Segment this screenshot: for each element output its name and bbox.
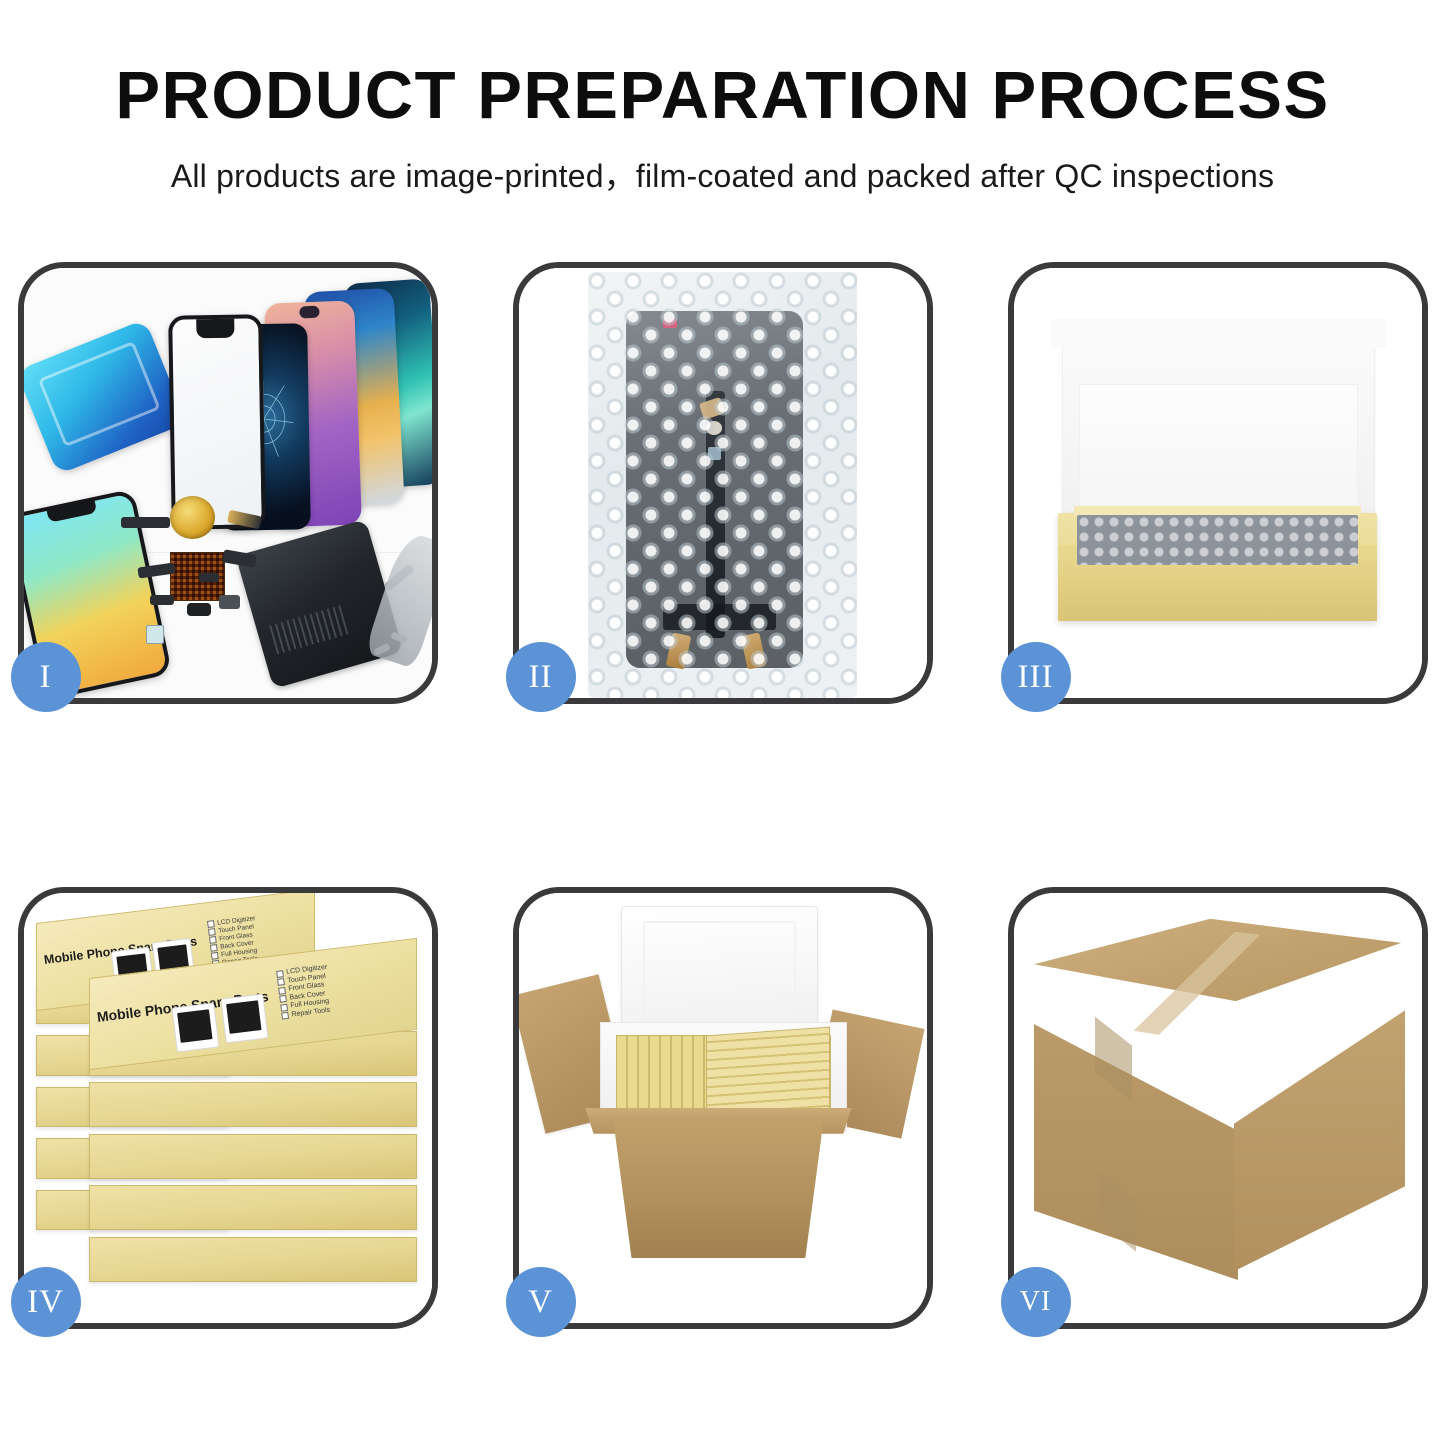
stacked-boxes-scene: Mobile Phone Spare Parts LCD Digitizer T… <box>24 893 432 1323</box>
page-subtitle: All products are image-printed，film-coat… <box>0 151 1445 197</box>
page-header: PRODUCT PREPARATION PROCESS All products… <box>0 0 1445 197</box>
step-badge-5: V <box>506 1267 576 1337</box>
step-badge-6: VI <box>1001 1267 1071 1337</box>
step-2-image <box>519 268 927 698</box>
phone-back-housing-board <box>236 519 403 688</box>
bubble-wrap-fill <box>1077 515 1357 564</box>
styrofoam-lid <box>621 906 819 1037</box>
bubble-texture-overlay <box>588 272 857 698</box>
process-step-panel-6[interactable]: VI <box>1008 887 1428 1329</box>
checkbox-icon <box>277 970 285 978</box>
carton-top-face <box>1034 919 1401 1061</box>
carton-front-face <box>1034 1013 1238 1280</box>
sealed-carton-scene <box>1014 893 1422 1323</box>
step-badge-1: I <box>11 642 81 712</box>
adhesive-frame-part <box>24 319 187 475</box>
flex-cable-part <box>199 573 219 582</box>
step-badge-4: IV <box>11 1267 81 1337</box>
gold-box-tray <box>1058 513 1376 621</box>
checkbox-icon <box>208 928 216 936</box>
stacked-box-body <box>89 1082 417 1127</box>
step-4-image: Mobile Phone Spare Parts LCD Digitizer T… <box>24 893 432 1323</box>
box-screen-display <box>178 1009 213 1043</box>
step-1-image <box>24 268 432 698</box>
sim-tray-part <box>146 625 164 644</box>
process-step-panel-2[interactable]: II <box>513 262 933 704</box>
checkbox-icon <box>210 944 218 952</box>
process-step-panel-5[interactable]: V <box>513 887 933 1329</box>
button-module-part <box>219 595 239 610</box>
box-screen-thumb <box>221 994 269 1044</box>
bubble-wrap-bag <box>588 272 857 698</box>
process-step-grid: I II <box>0 262 1445 1372</box>
process-step-panel-4[interactable]: Mobile Phone Spare Parts LCD Digitizer T… <box>18 887 438 1329</box>
flex-cable-part <box>121 517 170 528</box>
checkbox-icon <box>282 1013 290 1021</box>
carton-side-face <box>1234 988 1405 1272</box>
checkbox-icon <box>278 979 286 987</box>
retail-box-checklist-front: LCD Digitizer Touch Panel Front Glass Ba… <box>276 964 333 1021</box>
flex-cable-part <box>150 595 174 605</box>
spare-parts-scene <box>24 268 432 698</box>
step-6-image <box>1014 893 1422 1323</box>
step-3-image <box>1014 268 1422 698</box>
camera-module-part <box>187 603 211 616</box>
checkbox-icon <box>211 952 219 960</box>
stacked-box-body <box>89 1237 417 1282</box>
bubble-wrap-scene <box>519 268 927 698</box>
checkbox-icon <box>279 987 287 995</box>
step-badge-2: II <box>506 642 576 712</box>
carton-loading-scene <box>519 893 927 1323</box>
process-step-panel-1[interactable]: I <box>18 262 438 704</box>
checkbox-icon <box>209 936 217 944</box>
checkbox-icon <box>207 921 215 929</box>
page-title: PRODUCT PREPARATION PROCESS <box>0 62 1445 129</box>
carton-body <box>604 1121 832 1259</box>
checkbox-icon <box>281 1004 289 1012</box>
stacked-box-body <box>89 1134 417 1179</box>
step-5-image <box>519 893 927 1323</box>
box-screen-thumb <box>172 1002 220 1052</box>
stacked-box-body <box>89 1185 417 1230</box>
box-screen-display <box>227 1001 262 1035</box>
process-step-panel-3[interactable]: III <box>1008 262 1428 704</box>
checkbox-icon <box>280 996 288 1004</box>
inner-box-scene <box>1014 268 1422 698</box>
step-badge-3: III <box>1001 642 1071 712</box>
speaker-module-part <box>170 496 215 539</box>
